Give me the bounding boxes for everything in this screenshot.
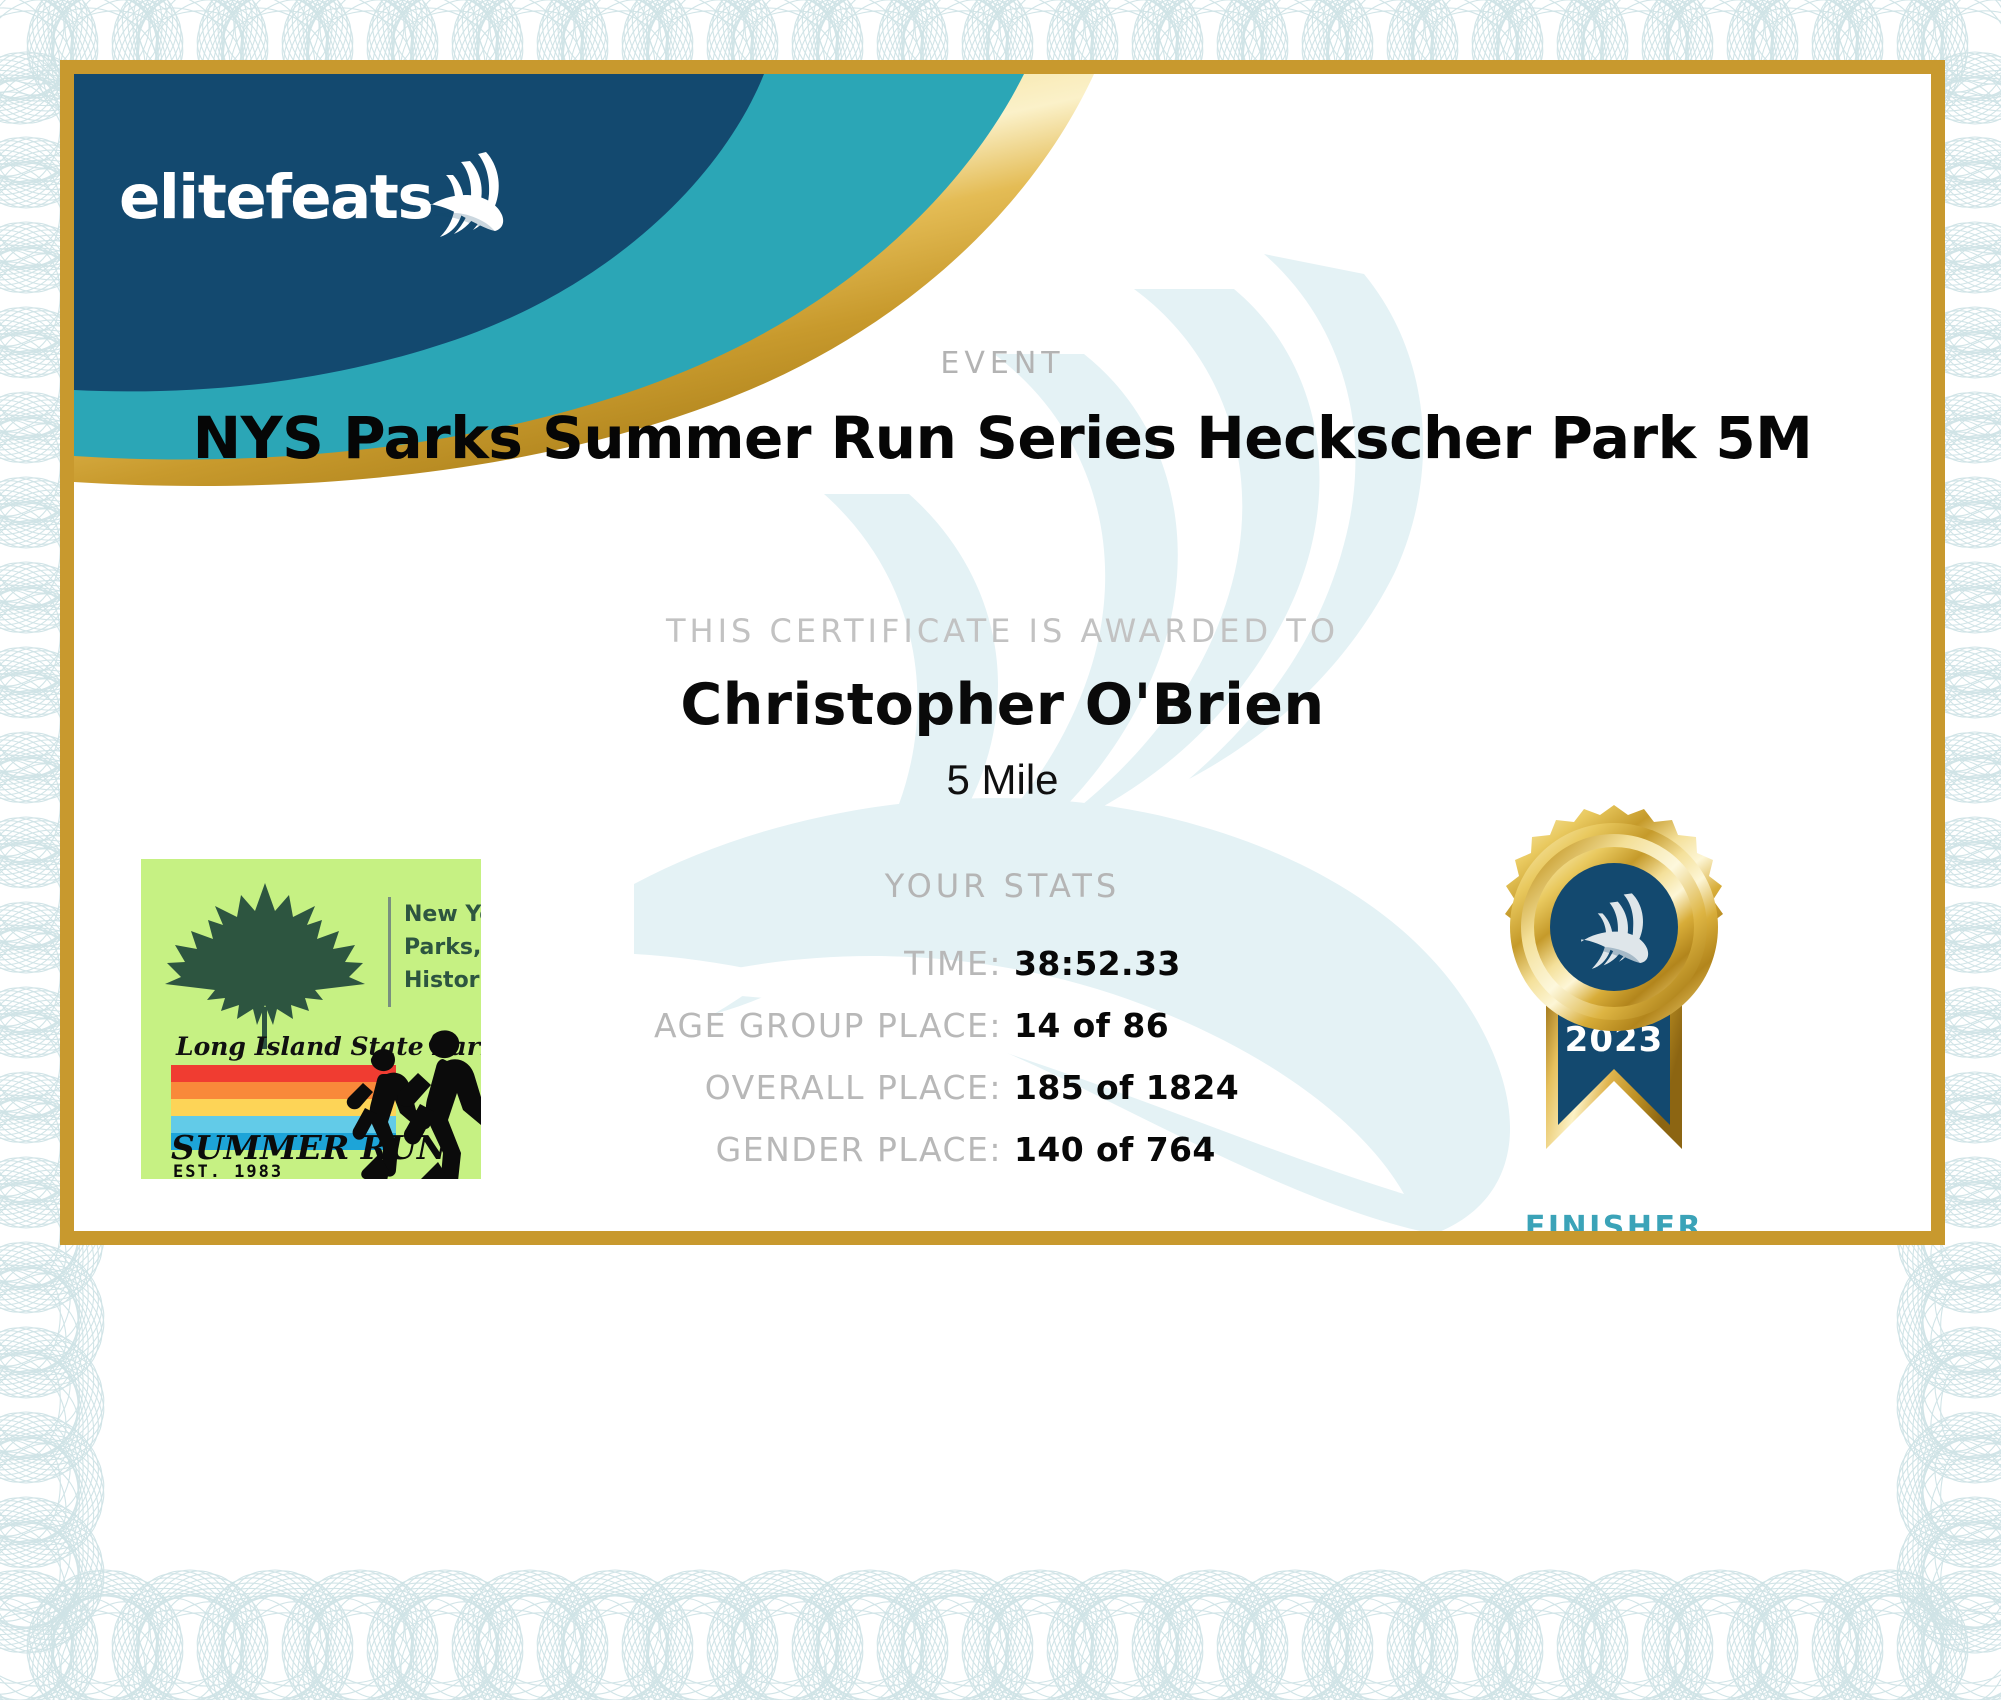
finisher-medal: 2023 [1464,799,1764,1231]
stat-label: TIME: [904,944,1002,983]
stat-label: GENDER PLACE: [716,1130,1002,1169]
certificate-frame: elitefeats EVENT NYS Parks Summer Run Se… [60,60,1945,1245]
sponsor-agency-line3: Historic Preservation [404,968,481,993]
stat-value: 38:52.33 [1014,944,1274,983]
event-label: EVENT [74,346,1931,381]
stat-value: 14 of 86 [1014,1006,1274,1045]
stat-label: AGE GROUP PLACE: [654,1006,1002,1045]
stat-value: 140 of 764 [1014,1130,1274,1169]
stat-label: OVERALL PLACE: [705,1068,1002,1107]
sponsor-agency-line2: Parks, Recreation and [404,935,481,960]
award-ribbon-icon: 2023 [1464,799,1764,1199]
sponsor-established: EST. 1983 [173,1162,283,1179]
race-distance: 5 Mile [74,756,1931,804]
sponsor-agency-line1: New York State [404,902,481,927]
sponsor-logo: New York State Parks, Recreation and His… [141,859,481,1179]
recipient-name: Christopher O'Brien [74,672,1931,738]
medal-caption: FINISHER CERTIFICATE [1464,1210,1764,1231]
medal-caption-line1: FINISHER [1464,1210,1764,1231]
event-title: NYS Parks Summer Run Series Heckscher Pa… [74,404,1931,472]
awarded-to-label: THIS CERTIFICATE IS AWARDED TO [74,612,1931,650]
maple-leaf-icon [165,883,365,1049]
stat-value: 185 of 1824 [1014,1068,1274,1107]
